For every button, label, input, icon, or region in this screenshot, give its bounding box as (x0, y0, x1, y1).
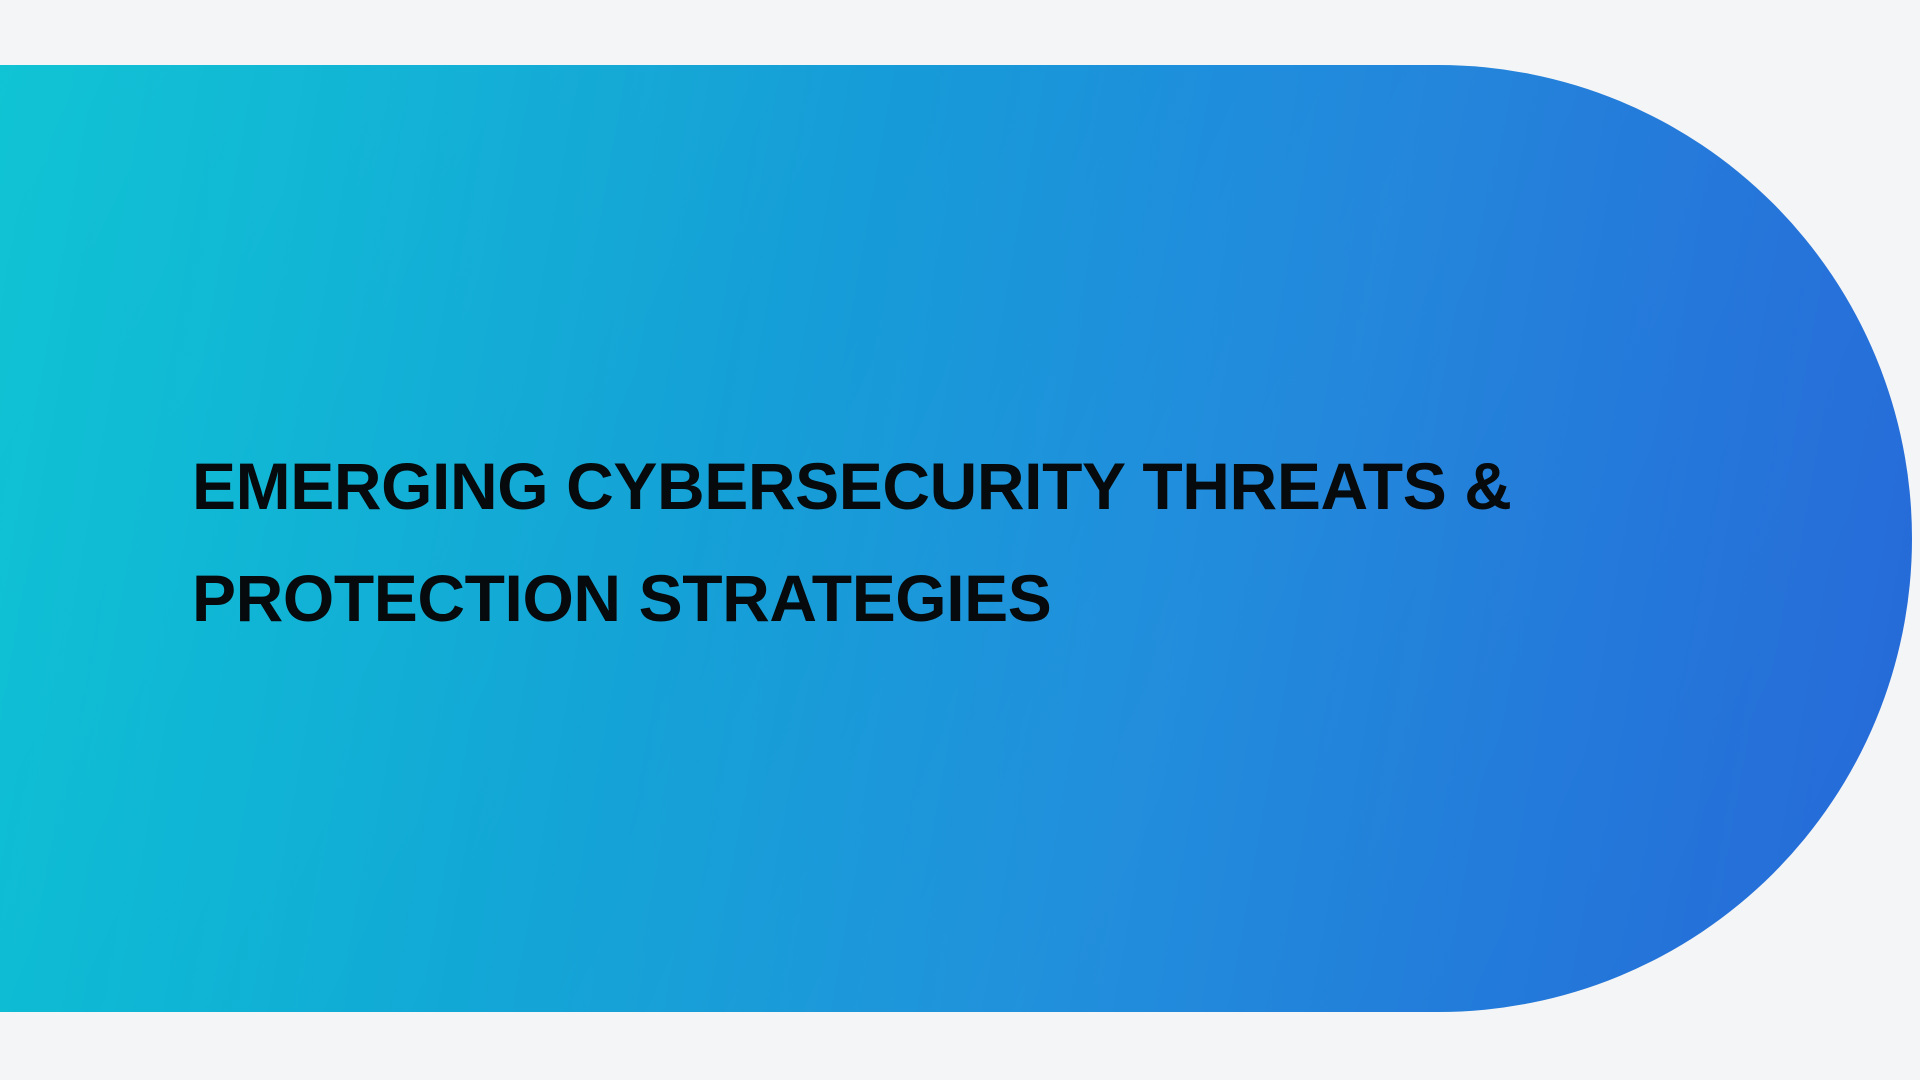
title-line-1: EMERGING CYBERSECURITY THREATS & (192, 430, 1792, 542)
title-line-2: PROTECTION STRATEGIES (192, 542, 1792, 654)
slide-canvas: EMERGING CYBERSECURITY THREATS & PROTECT… (0, 0, 1920, 1080)
page-title: EMERGING CYBERSECURITY THREATS & PROTECT… (192, 430, 1792, 654)
